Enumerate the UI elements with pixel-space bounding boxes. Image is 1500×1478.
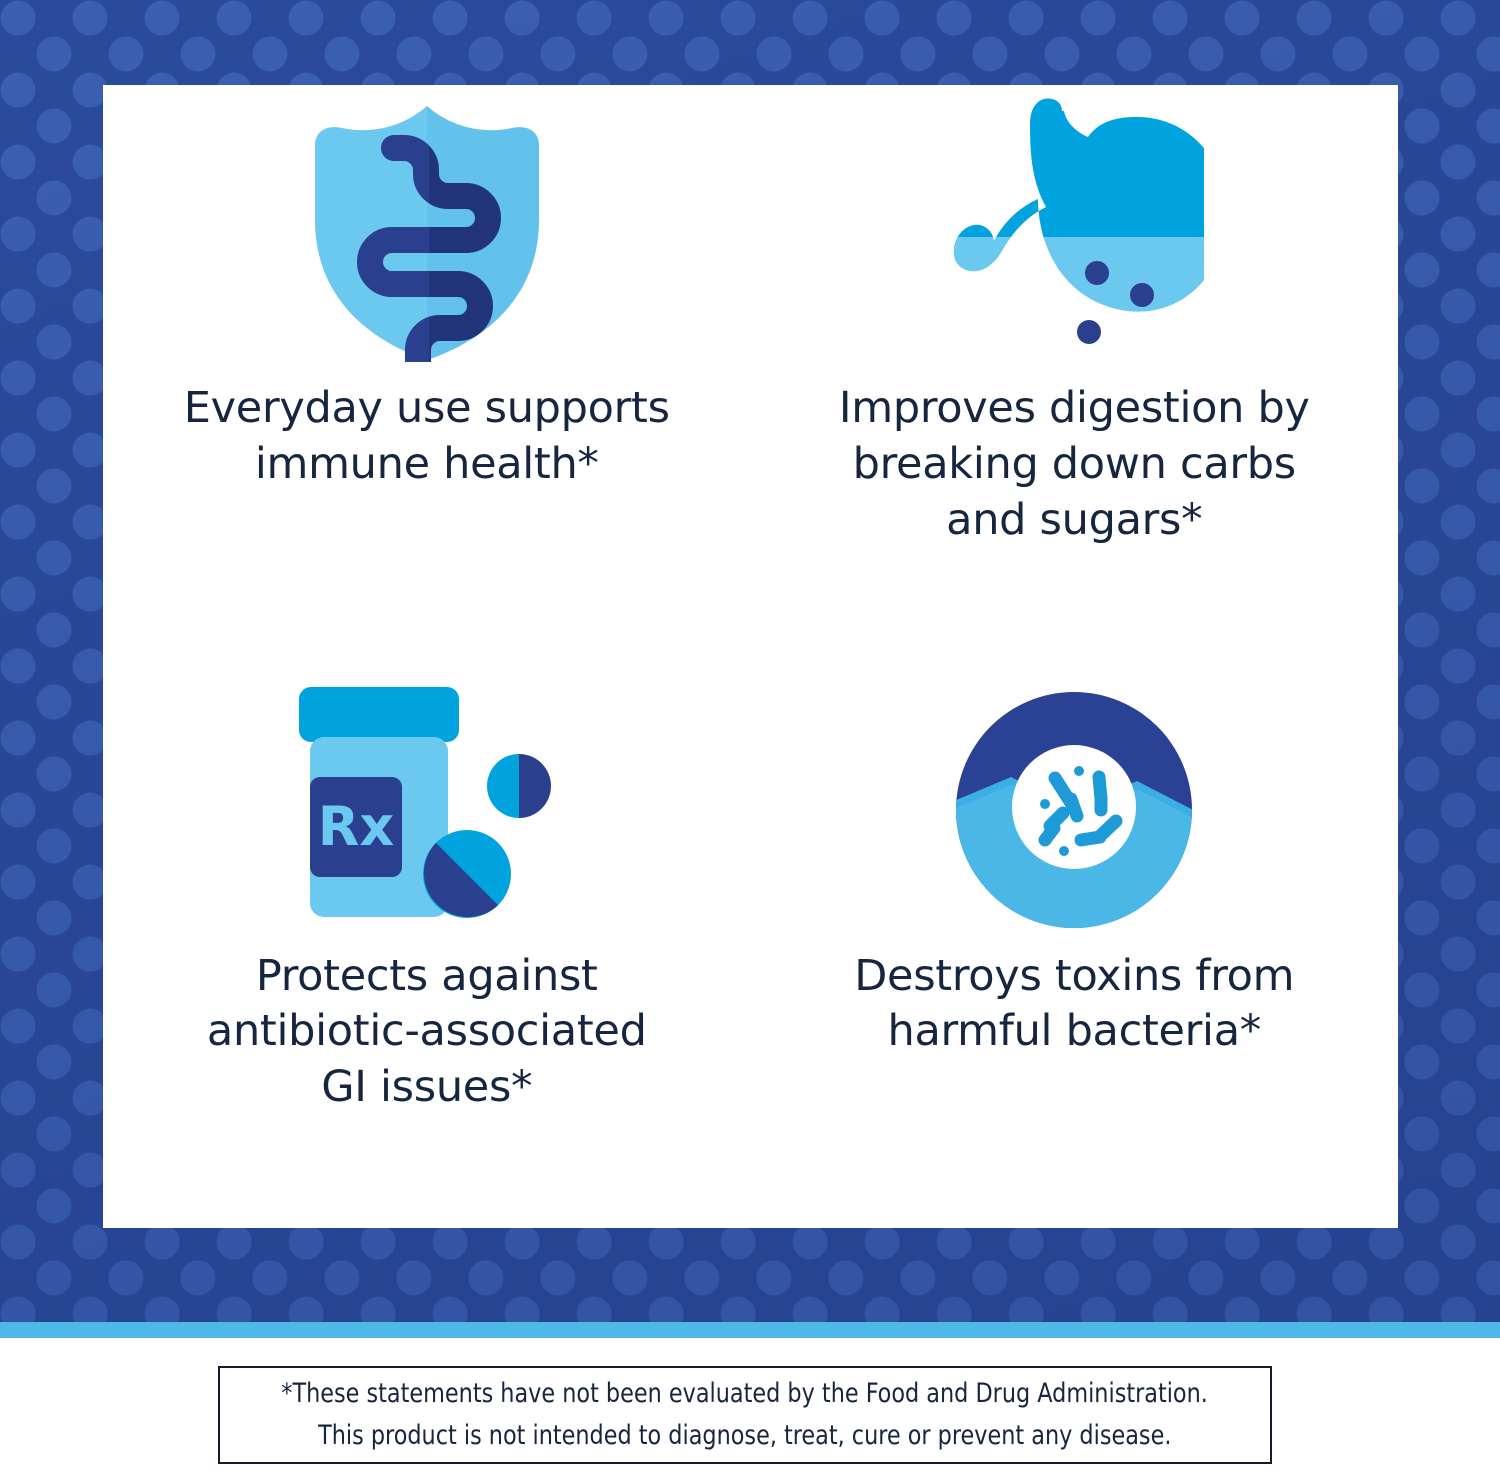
benefit-cell-antibiotic-gi: Rx Protects against antibiotic-ass <box>103 657 751 1229</box>
benefits-grid: Everyday use supports immune health* <box>103 85 1398 1228</box>
benefit-caption: Protects against antibiotic-associated G… <box>207 949 647 1117</box>
shield-intestine-icon <box>302 97 552 367</box>
benefit-caption: Destroys toxins from harmful bacteria* <box>854 949 1294 1061</box>
benefit-cell-immune-health: Everyday use supports immune health* <box>103 85 751 657</box>
disclaimer-line-1: *These statements have not been evaluate… <box>282 1373 1209 1415</box>
benefit-cell-toxins: Destroys toxins from harmful bacteria* <box>751 657 1399 1229</box>
accent-strip <box>0 1322 1500 1338</box>
benefit-caption: Everyday use supports immune health* <box>184 381 670 493</box>
rx-label-text: Rx <box>318 795 395 858</box>
benefit-caption: Improves digestion by breaking down carb… <box>839 381 1310 549</box>
infographic-root: Everyday use supports immune health* <box>0 0 1500 1478</box>
content-card: Everyday use supports immune health* <box>103 85 1398 1228</box>
benefit-cell-digestion: Improves digestion by breaking down carb… <box>751 85 1399 657</box>
stomach-icon <box>944 97 1204 367</box>
petri-dish-bacteria-icon <box>949 685 1199 935</box>
fda-disclaimer-box: *These statements have not been evaluate… <box>218 1366 1272 1464</box>
rx-pill-bottle-icon: Rx <box>277 685 577 935</box>
disclaimer-line-2: This product is not intended to diagnose… <box>318 1415 1171 1457</box>
